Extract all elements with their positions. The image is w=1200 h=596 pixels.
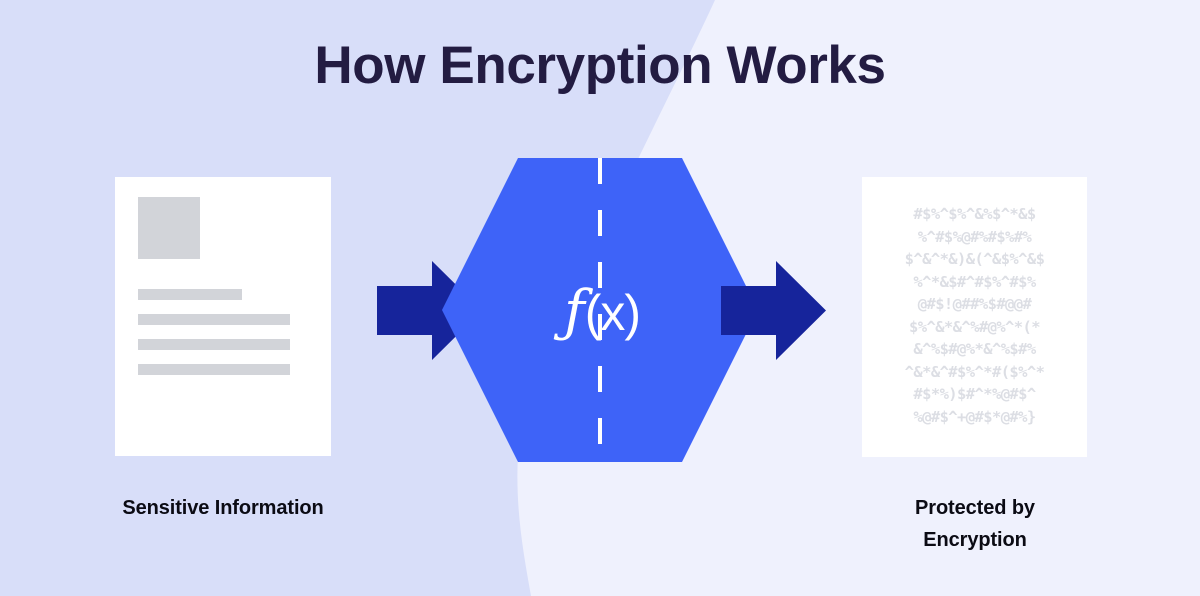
hexagon-shape (442, 158, 758, 462)
document-text-line (138, 289, 242, 300)
page-title: How Encryption Works (0, 36, 1200, 95)
document-text-line (138, 339, 290, 350)
document-image-placeholder (138, 197, 200, 259)
ciphertext-document-card: #$%^$%^&%$^*&$ %^#$%@#%#$%#% $^&^*&)&(^&… (862, 177, 1087, 457)
caption-sensitive-information: Sensitive Information (63, 492, 383, 524)
encryption-function-hexagon: ƒ(x) (440, 156, 760, 464)
caption-protected-by-encryption: Protected by Encryption (865, 492, 1085, 556)
caption-right-line-1: Protected by (865, 492, 1085, 524)
flow-arrow-hexagon-to-ciphertext (721, 261, 826, 360)
infographic-canvas: How Encryption Works ƒ(x) #$%^$%^&%$^*&$… (0, 0, 1200, 596)
document-text-line (138, 314, 290, 325)
caption-right-line-2: Encryption (865, 524, 1085, 556)
plaintext-document-card (115, 177, 331, 456)
ciphertext-content: #$%^$%^&%$^*&$ %^#$%@#%#$%#% $^&^*&)&(^&… (862, 203, 1087, 428)
document-text-line (138, 364, 290, 375)
